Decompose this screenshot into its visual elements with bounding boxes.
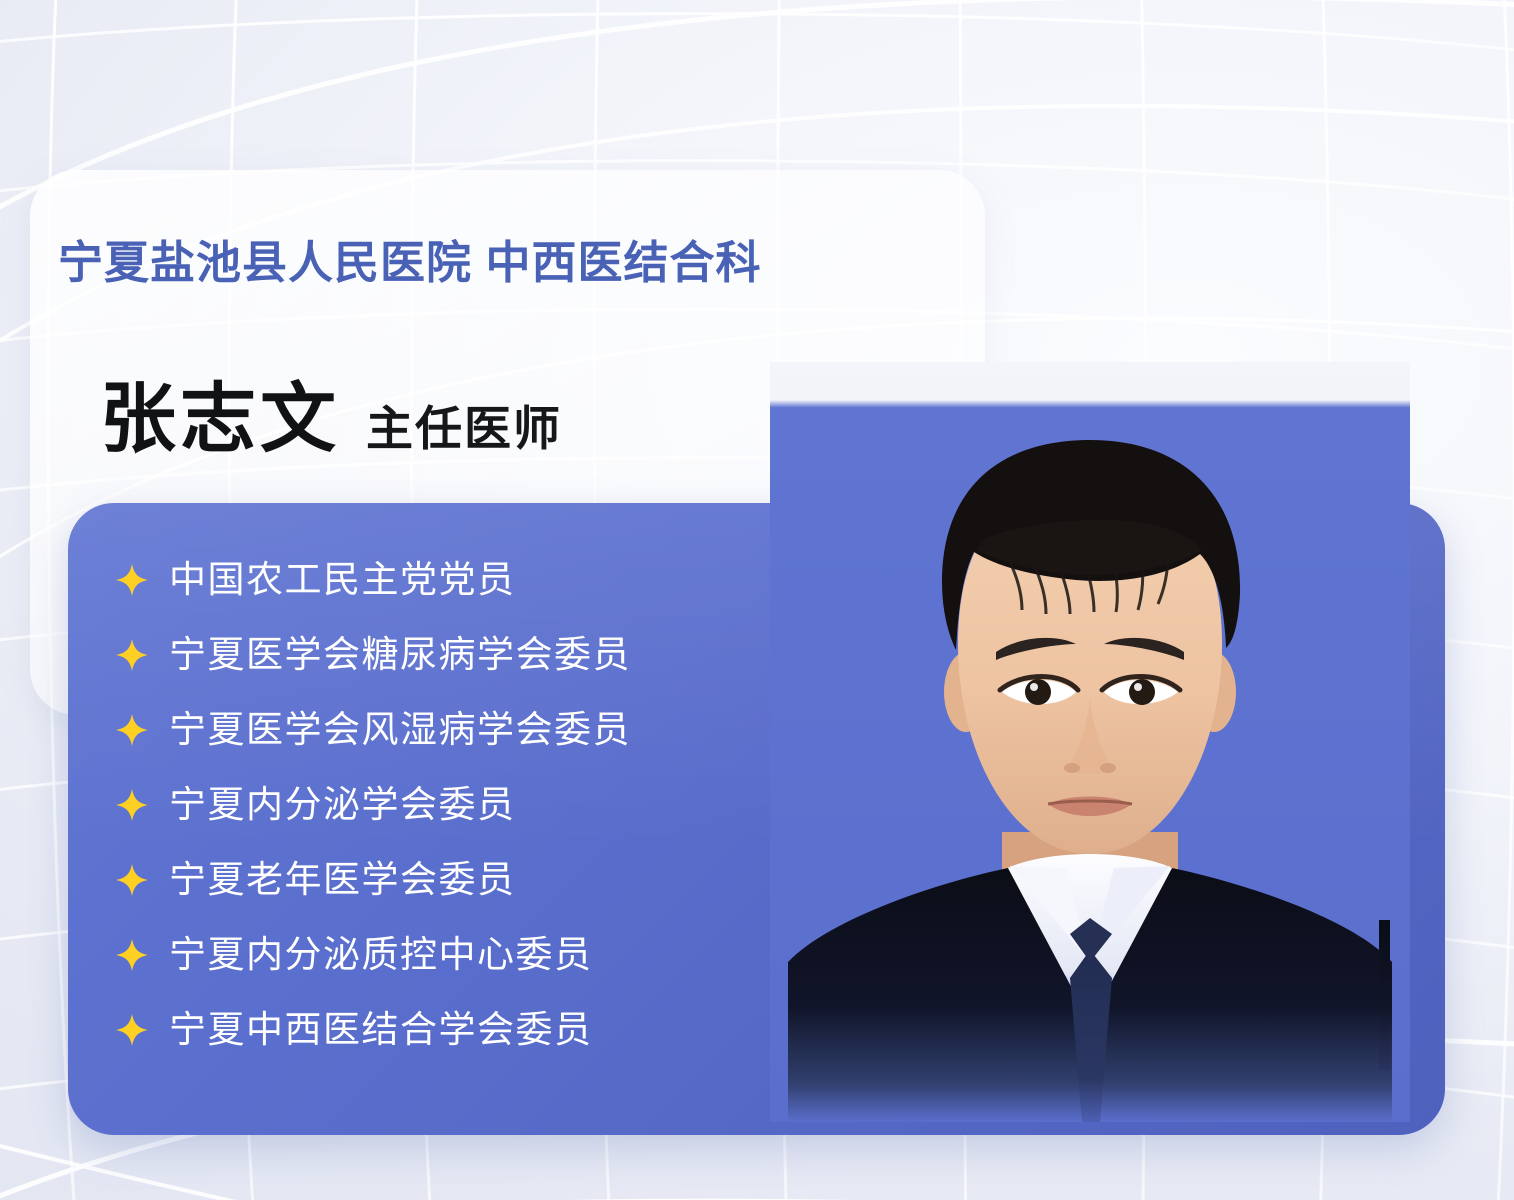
list-item-label: 宁夏医学会糖尿病学会委员 — [169, 636, 631, 673]
doctor-profile-card: 宁夏盐池县人民医院 中西医结合科 张志文 主任医师 — [0, 0, 1514, 1200]
hospital-department-title: 宁夏盐池县人民医院 中西医结合科 — [58, 226, 762, 291]
list-item-label: 宁夏医学会风湿病学会委员 — [169, 711, 631, 748]
doctor-professional-title: 主任医师 — [366, 405, 562, 452]
sparkle-star-icon — [115, 938, 149, 972]
list-item: 宁夏老年医学会委员 — [115, 842, 755, 917]
credentials-list: 中国农工民主党党员 宁夏医学会糖尿病学会委员 宁夏医学会风湿病学会委员 — [115, 542, 755, 1067]
sparkle-star-icon — [115, 863, 149, 897]
sparkle-star-icon — [115, 638, 149, 672]
list-item-label: 宁夏内分泌学会委员 — [169, 786, 516, 823]
list-item: 宁夏中西医结合学会委员 — [115, 992, 755, 1067]
list-item-label: 宁夏内分泌质控中心委员 — [169, 936, 593, 973]
sparkle-star-icon — [115, 788, 149, 822]
sparkle-star-icon — [115, 713, 149, 747]
doctor-name: 张志文 — [100, 382, 340, 458]
portrait-shoulder-edge — [1379, 920, 1390, 1070]
list-item-label: 宁夏中西医结合学会委员 — [169, 1011, 593, 1048]
list-item: 宁夏医学会糖尿病学会委员 — [115, 617, 755, 692]
list-item: 宁夏内分泌学会委员 — [115, 767, 755, 842]
sparkle-star-icon — [115, 563, 149, 597]
list-item-label: 宁夏老年医学会委员 — [169, 861, 516, 898]
sparkle-star-icon — [115, 1013, 149, 1047]
list-item: 宁夏内分泌质控中心委员 — [115, 917, 755, 992]
list-item-label: 中国农工民主党党员 — [169, 561, 516, 598]
doctor-name-row: 张志文 主任医师 — [100, 382, 562, 458]
list-item: 中国农工民主党党员 — [115, 542, 755, 617]
doctor-portrait — [770, 362, 1410, 1122]
list-item: 宁夏医学会风湿病学会委员 — [115, 692, 755, 767]
